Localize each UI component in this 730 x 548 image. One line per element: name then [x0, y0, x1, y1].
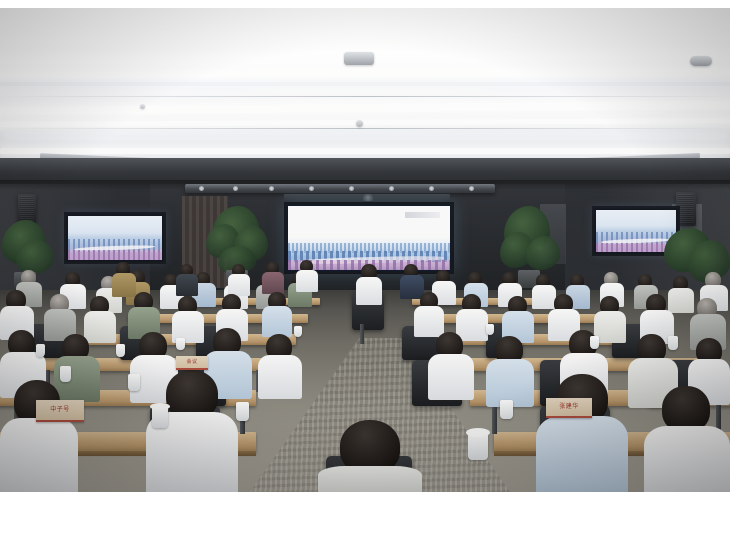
screenshot-root: 中子号 张建华 会议: [0, 0, 730, 548]
ceiling-speaker-icon: [344, 52, 374, 65]
attendee: [0, 380, 78, 492]
tea-cup: [152, 406, 168, 428]
tea-cup: [486, 324, 494, 335]
video-camera-icon: [362, 194, 374, 201]
attendee: [176, 264, 198, 296]
tea-cup: [500, 400, 513, 419]
tea-cup: [36, 344, 45, 357]
tea-cup: [294, 326, 302, 337]
skyline-near: [68, 250, 162, 260]
table-leg: [360, 324, 364, 344]
tea-cup: [60, 366, 71, 382]
attendee: [112, 262, 136, 296]
placard-text: 会议: [186, 360, 197, 365]
ceiling-light-strip: [6, 134, 726, 138]
attendee: [644, 386, 730, 492]
ceiling-speaker-icon: [690, 56, 712, 66]
attendee: [258, 334, 302, 396]
left-side-screen[interactable]: [64, 212, 166, 264]
attendee: [262, 292, 292, 336]
smoke-detector-icon: [140, 104, 145, 109]
attendee: [356, 264, 382, 304]
ceiling-light-strip: [0, 148, 730, 154]
tea-cup: [468, 432, 488, 460]
name-placard-right: 张建华: [546, 398, 592, 418]
table-leg: [492, 404, 497, 434]
tea-cup: [236, 402, 249, 421]
attendee: [228, 264, 250, 296]
left-screen-content: [68, 216, 162, 260]
attendee: [296, 260, 318, 292]
tea-cup: [176, 338, 185, 350]
tea-cup: [116, 344, 125, 357]
placard-text: 张建华: [559, 404, 579, 410]
ceiling-seam: [0, 96, 730, 97]
screen-watermark: [405, 212, 441, 218]
tea-cup: [590, 336, 599, 349]
placard-text: 中子号: [50, 407, 70, 413]
ceiling-seam: [0, 128, 730, 129]
smoke-detector-icon: [356, 120, 363, 127]
conference-room-photo: 中子号 张建华 会议: [0, 8, 730, 492]
tea-cup: [128, 374, 140, 391]
lighting-truss: [185, 184, 495, 193]
ceiling-light-strip: [0, 82, 730, 86]
attendee: [262, 262, 284, 294]
attendee: [536, 374, 628, 492]
attendee: [146, 370, 238, 492]
attendee: [414, 292, 444, 336]
tea-cup: [668, 336, 678, 350]
name-placard-left: 中子号: [36, 400, 84, 422]
attendee: [486, 336, 534, 404]
attendee: [318, 420, 422, 492]
name-placard-center: 会议: [176, 356, 208, 370]
attendee: [428, 332, 474, 398]
